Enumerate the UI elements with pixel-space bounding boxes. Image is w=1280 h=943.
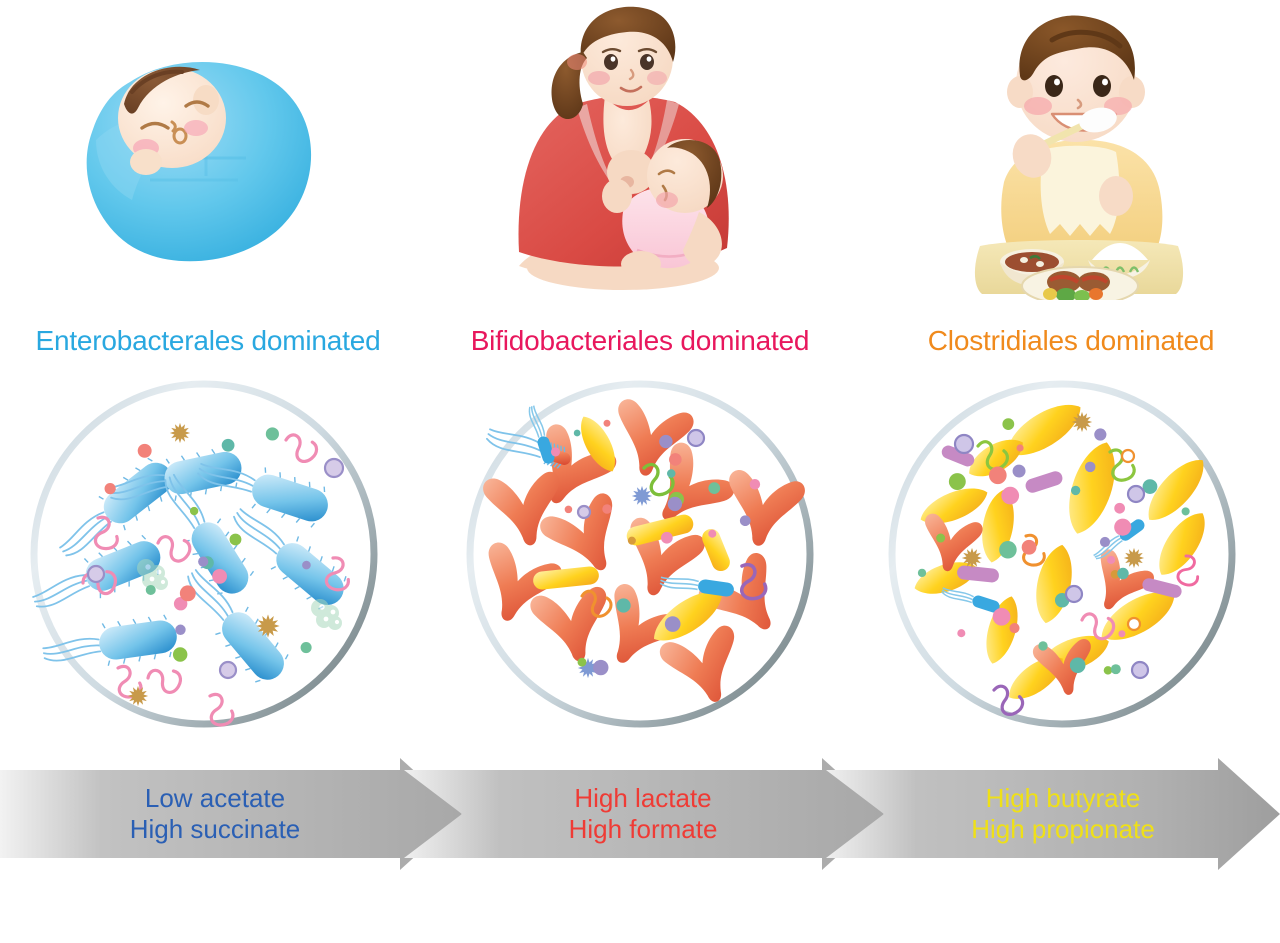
stage-heading-clostridiales: Clostridiales dominated <box>858 325 1280 357</box>
metabolite-label-stage-2: High lactate High formate <box>428 783 858 845</box>
metabolite-line-2: High propionate <box>848 814 1278 845</box>
metabolite-line-1: High butyrate <box>986 783 1141 813</box>
metabolite-line-1: Low acetate <box>145 783 285 813</box>
figure-canvas: Enterobacterales dominated Bifidobacteri… <box>0 0 1280 943</box>
metabolite-line-2: High succinate <box>0 814 430 845</box>
stage-heading-bifidobacteriales: Bifidobacteriales dominated <box>427 325 853 357</box>
metabolite-line-2: High formate <box>428 814 858 845</box>
petri-dish-clostridiales <box>886 378 1238 730</box>
metabolite-label-stage-3: High butyrate High propionate <box>848 783 1278 845</box>
breastfeeding-mother-illustration <box>427 0 853 300</box>
metabolite-label-stage-1: Low acetate High succinate <box>0 783 430 845</box>
toddler-eating-solid-food-illustration <box>854 0 1280 300</box>
petri-dish-enterobacterales <box>28 378 380 730</box>
swaddled-newborn-illustration <box>0 0 426 300</box>
petri-dish-bifidobacteriales <box>464 378 816 730</box>
stage-heading-enterobacterales: Enterobacterales dominated <box>0 325 421 357</box>
metabolite-line-1: High lactate <box>574 783 711 813</box>
